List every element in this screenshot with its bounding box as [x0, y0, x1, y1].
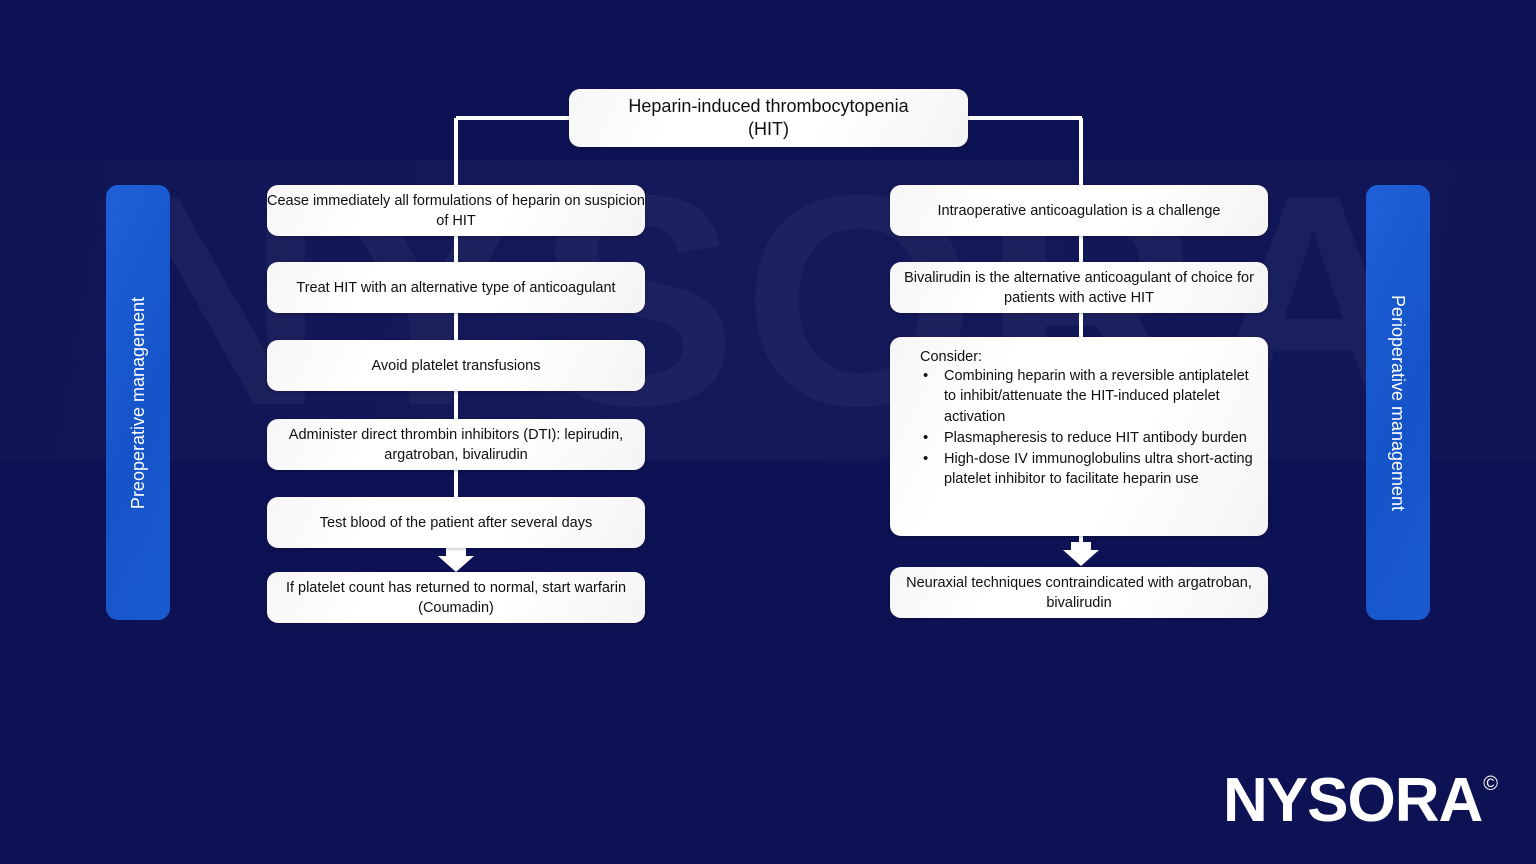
node-left-step-4: Administer direct thrombin inhibitors (D…: [267, 419, 645, 470]
node-root-hit: Heparin-induced thrombocytopenia (HIT): [569, 89, 968, 147]
node-label: Bivalirudin is the alternative anticoagu…: [890, 268, 1268, 308]
node-label: Cease immediately all formulations of he…: [267, 191, 645, 231]
nysora-wordmark: NYSORA: [1223, 772, 1482, 829]
rail-preoperative-management: Preoperative management: [106, 185, 170, 620]
arrowhead-right: [1063, 542, 1099, 566]
consider-content: Consider: Combining heparin with a rever…: [920, 349, 1254, 491]
rail-left-label: Preoperative management: [129, 296, 147, 508]
node-label: If platelet count has returned to normal…: [267, 578, 645, 618]
consider-bullet-list: Combining heparin with a reversible anti…: [920, 366, 1254, 490]
rail-right-label: Perioperative management: [1389, 294, 1407, 510]
node-label: Administer direct thrombin inhibitors (D…: [267, 425, 645, 465]
consider-bullet: Plasmapheresis to reduce HIT antibody bu…: [920, 428, 1254, 448]
consider-bullet: Combining heparin with a reversible anti…: [920, 366, 1254, 427]
copyright-icon: ©: [1483, 774, 1498, 794]
node-label: Neuraxial techniques contraindicated wit…: [890, 573, 1268, 613]
node-root-label: Heparin-induced thrombocytopenia (HIT): [628, 95, 908, 141]
node-left-step-5: Test blood of the patient after several …: [267, 497, 645, 548]
node-left-step-6: If platelet count has returned to normal…: [267, 572, 645, 623]
node-right-step-1: Intraoperative anticoagulation is a chal…: [890, 185, 1268, 236]
watermark-band: [0, 160, 1536, 460]
nysora-logo: NYSORA ©: [1223, 772, 1498, 829]
arrowhead-left: [438, 548, 474, 572]
node-label: Test blood of the patient after several …: [320, 513, 592, 533]
node-left-step-3: Avoid platelet transfusions: [267, 340, 645, 391]
node-right-consider: Consider: Combining heparin with a rever…: [890, 337, 1268, 536]
node-left-step-1: Cease immediately all formulations of he…: [267, 185, 645, 236]
node-label: Avoid platelet transfusions: [371, 356, 540, 376]
node-label: Treat HIT with an alternative type of an…: [296, 278, 615, 298]
consider-heading: Consider:: [920, 349, 1254, 365]
node-left-step-2: Treat HIT with an alternative type of an…: [267, 262, 645, 313]
consider-bullet: High-dose IV immunoglobulins ultra short…: [920, 449, 1254, 490]
node-right-final-step: Neuraxial techniques contraindicated wit…: [890, 567, 1268, 618]
node-right-step-2: Bivalirudin is the alternative anticoagu…: [890, 262, 1268, 313]
rail-perioperative-management: Perioperative management: [1366, 185, 1430, 620]
node-label: Intraoperative anticoagulation is a chal…: [938, 201, 1221, 221]
